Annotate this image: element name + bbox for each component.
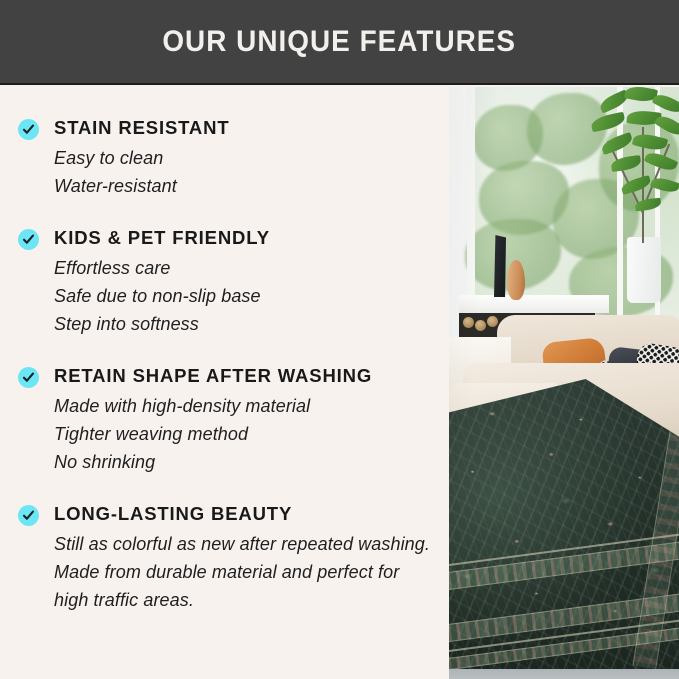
feature-detail: Effortless care bbox=[54, 254, 441, 282]
header-bar: OUR UNIQUE FEATURES bbox=[0, 0, 679, 85]
firewood-log bbox=[463, 317, 474, 328]
feature-detail: Made with high-density material bbox=[54, 392, 441, 420]
feature-detail: No shrinking bbox=[54, 448, 441, 476]
window-mullion bbox=[617, 87, 623, 349]
lifestyle-photo bbox=[449, 87, 679, 679]
check-circle-icon bbox=[18, 505, 39, 526]
feature-detail-list: Easy to clean Water-resistant bbox=[54, 144, 441, 200]
feature-detail: Safe due to non-slip base bbox=[54, 282, 441, 310]
features-infographic: OUR UNIQUE FEATURES STAIN RESISTANT Easy… bbox=[0, 0, 679, 679]
feature-title: STAIN RESISTANT bbox=[54, 117, 441, 139]
planter bbox=[627, 237, 661, 303]
feature-detail: Easy to clean bbox=[54, 144, 441, 172]
features-list: STAIN RESISTANT Easy to clean Water-resi… bbox=[0, 87, 449, 679]
window-sill bbox=[459, 295, 609, 313]
feature-item: STAIN RESISTANT Easy to clean Water-resi… bbox=[18, 117, 441, 200]
feature-detail: Water-resistant bbox=[54, 172, 441, 200]
firewood-log bbox=[475, 320, 486, 331]
feature-detail-list: Made with high-density material Tighter … bbox=[54, 392, 441, 476]
check-circle-icon bbox=[18, 367, 39, 388]
terracotta-vase bbox=[507, 260, 525, 300]
check-circle-icon bbox=[18, 119, 39, 140]
feature-item: RETAIN SHAPE AFTER WASHING Made with hig… bbox=[18, 365, 441, 476]
feature-item: LONG-LASTING BEAUTY Still as colorful as… bbox=[18, 503, 441, 614]
feature-title: LONG-LASTING BEAUTY bbox=[54, 503, 441, 525]
check-circle-icon bbox=[18, 229, 39, 250]
page-title: OUR UNIQUE FEATURES bbox=[163, 25, 517, 59]
feature-item: KIDS & PET FRIENDLY Effortless care Safe… bbox=[18, 227, 441, 338]
firewood-log bbox=[487, 316, 498, 327]
feature-detail-list: Still as colorful as new after repeated … bbox=[54, 530, 441, 614]
feature-title: RETAIN SHAPE AFTER WASHING bbox=[54, 365, 441, 387]
feature-detail: Still as colorful as new after repeated … bbox=[54, 530, 432, 614]
living-room-scene bbox=[449, 87, 679, 679]
feature-title: KIDS & PET FRIENDLY bbox=[54, 227, 441, 249]
feature-detail-list: Effortless care Safe due to non-slip bas… bbox=[54, 254, 441, 338]
area-rug bbox=[449, 379, 679, 669]
window-mullion bbox=[467, 87, 475, 327]
feature-detail: Step into softness bbox=[54, 310, 441, 338]
speaker-sculpture bbox=[494, 235, 506, 297]
feature-detail: Tighter weaving method bbox=[54, 420, 441, 448]
